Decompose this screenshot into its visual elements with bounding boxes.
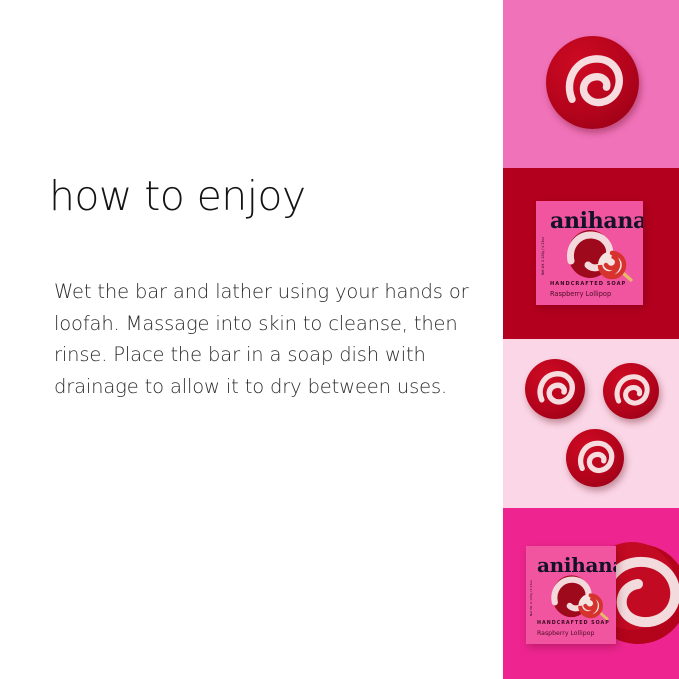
net-weight-label: Net Wt. 0.120g / 4.23oz (529, 580, 533, 616)
soap-and-lollipop-illustration (562, 227, 640, 285)
panel-single-soap (503, 0, 679, 168)
soap-bar-swirl (566, 429, 624, 487)
box-artwork (547, 572, 615, 624)
brand-logo: anihana (550, 208, 643, 234)
soap-bar-swirl (525, 359, 585, 419)
category-label: HANDCRAFTED SOAP (550, 281, 626, 287)
soap-and-lollipop-illustration (547, 572, 615, 624)
product-box: anihana Net Wt. 0.120g / 4.23oz HANDCRAF… (526, 546, 616, 644)
instructions-paragraph: Wet the bar and lather using your hands … (54, 276, 470, 402)
page-title: how to enjoy (49, 174, 306, 219)
copy-column: how to enjoy Wet the bar and lather usin… (0, 0, 503, 679)
net-weight-label: Net Wt. 0.120g / 4.23oz (541, 237, 545, 275)
panel-three-soaps (503, 339, 679, 508)
soap-bar-swirl (546, 36, 639, 129)
panel-box-with-soap: anihana Net Wt. 0.120g / 4.23oz HANDCRAF… (503, 508, 679, 679)
swirl-icon (603, 363, 659, 419)
soap-bar-swirl (603, 363, 659, 419)
swirl-icon (525, 359, 585, 419)
box-artwork (562, 227, 640, 285)
product-detail-image: how to enjoy Wet the bar and lather usin… (0, 0, 679, 679)
panel-product-box: anihana Net Wt. 0.120g / 4.23oz HANDCRAF… (503, 168, 679, 339)
variant-label: Raspberry Lollipop (537, 630, 594, 637)
product-photo-strip: anihana Net Wt. 0.120g / 4.23oz HANDCRAF… (503, 0, 679, 679)
brand-logo: anihana (537, 553, 616, 577)
swirl-icon (566, 429, 624, 487)
variant-label: Raspberry Lollipop (550, 290, 611, 298)
category-label: HANDCRAFTED SOAP (537, 621, 610, 626)
swirl-icon (546, 36, 639, 129)
product-box: anihana Net Wt. 0.120g / 4.23oz HANDCRAF… (536, 201, 643, 305)
